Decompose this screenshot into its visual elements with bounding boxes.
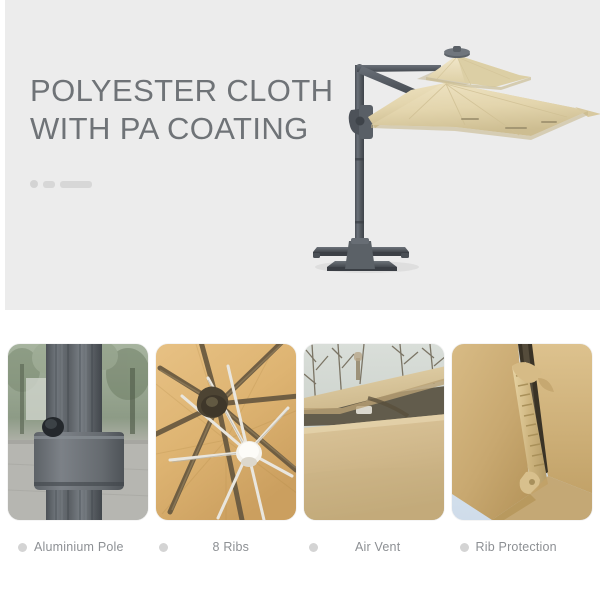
dash-mark-large-icon	[60, 181, 92, 188]
bullet-dot-icon	[460, 543, 469, 552]
caption-air-vent: Air Vent	[299, 534, 442, 560]
dot-mark-icon	[30, 180, 38, 188]
feature-panel-air-vent[interactable]	[304, 344, 444, 520]
caption-label: 8 Ribs	[213, 540, 250, 554]
caption-label: Aluminium Pole	[34, 540, 124, 554]
bullet-dot-icon	[309, 543, 318, 552]
feature-panel-rib-protection[interactable]	[452, 344, 592, 520]
feature-caption-row: Aluminium Pole 8 Ribs Air Vent Rib Prote…	[8, 534, 592, 560]
feature-panel-8-ribs[interactable]	[156, 344, 296, 520]
feature-panel-aluminium-pole[interactable]	[8, 344, 148, 520]
feature-panel-strip	[8, 344, 592, 520]
decorative-marks	[30, 180, 92, 188]
bullet-dot-icon	[159, 543, 168, 552]
caption-rib-protection: Rib Protection	[450, 534, 593, 560]
caption-aluminium-pole: Aluminium Pole	[8, 534, 151, 560]
cantilever-umbrella-illustration-icon	[305, 35, 600, 295]
caption-label: Air Vent	[355, 540, 400, 554]
caption-8-ribs: 8 Ribs	[159, 534, 292, 560]
bullet-dot-icon	[18, 543, 27, 552]
product-feature-image: POLYESTER CLOTH WITH PA COATING	[0, 0, 600, 600]
dash-mark-small-icon	[43, 181, 55, 188]
hero-section: POLYESTER CLOTH WITH PA COATING	[5, 0, 600, 310]
caption-label: Rib Protection	[476, 540, 557, 554]
